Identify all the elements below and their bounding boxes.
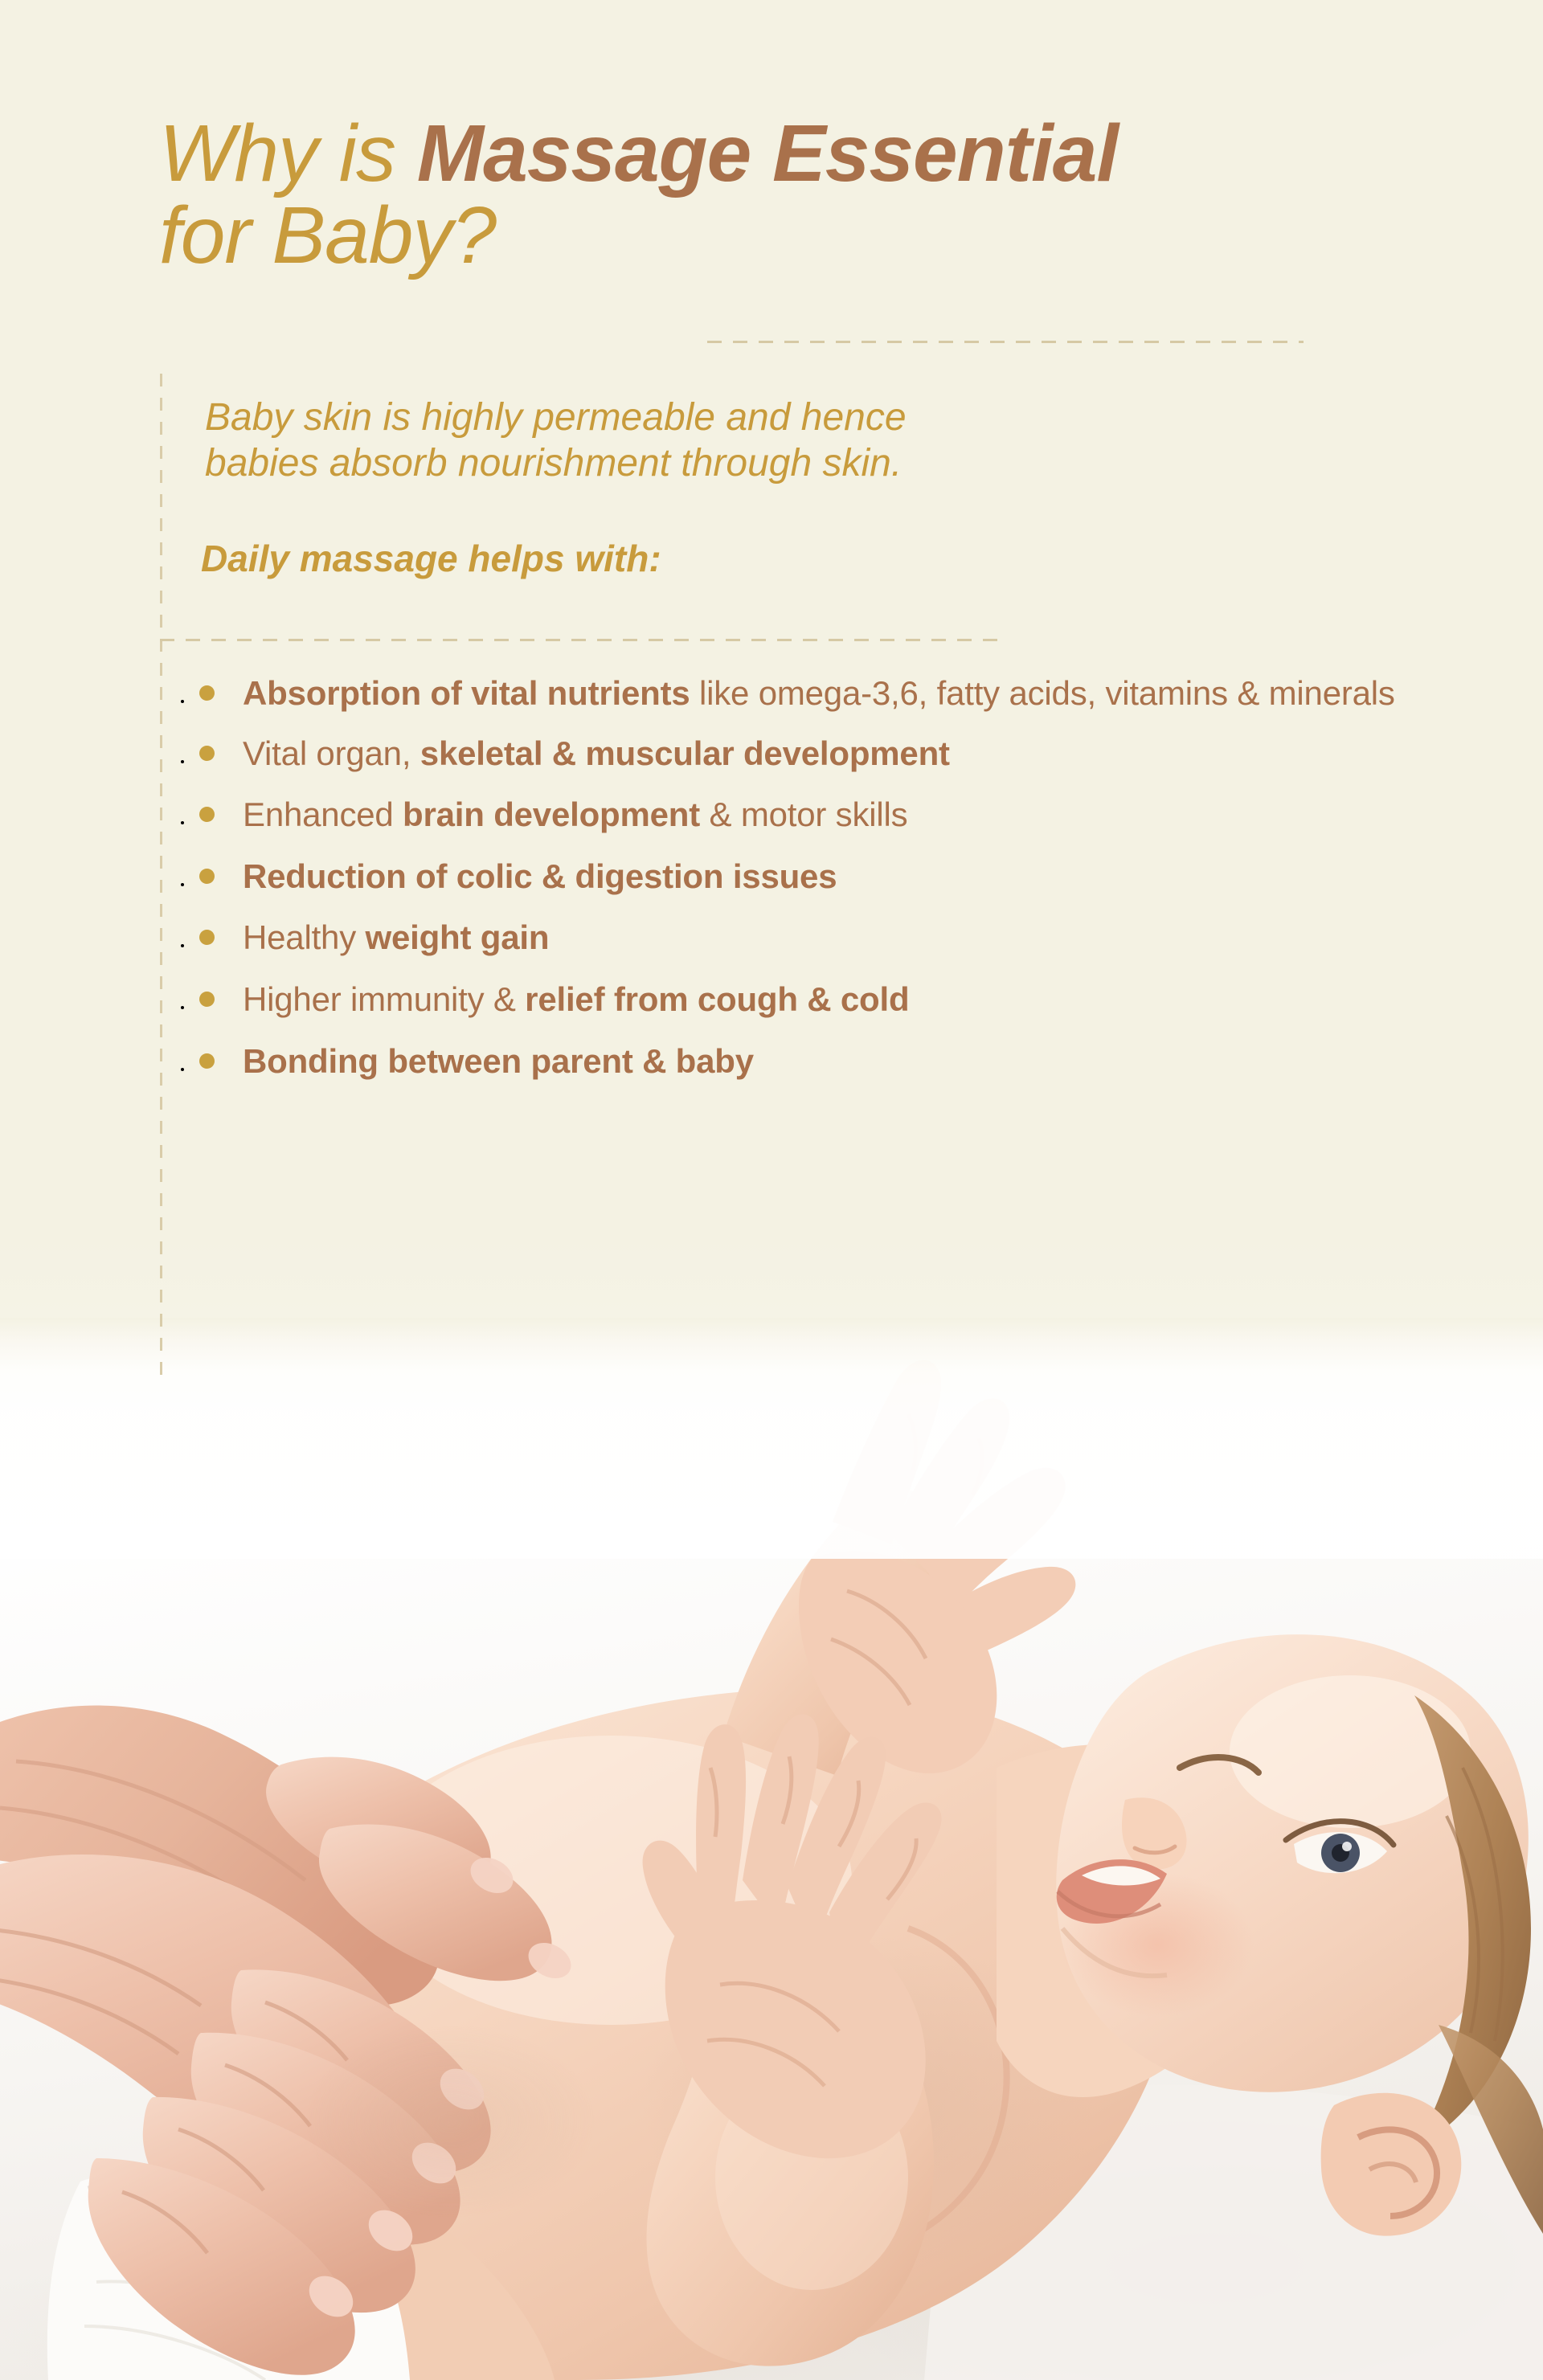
benefit-immunity: Higher immunity & relief from cough & co… <box>243 980 909 1018</box>
helps-heading: Daily massage helps with: <box>201 537 661 580</box>
benefit-bonding: Bonding between parent & baby <box>243 1042 754 1080</box>
benefits-list: Absorption of vital nutrients like omega… <box>193 672 1398 1083</box>
baby-massage-photo <box>0 1318 1543 2380</box>
page-title: Why is Massage Essential for Baby? <box>159 112 1365 276</box>
poster-root: Why is Massage Essential for Baby? Baby … <box>0 0 1543 2380</box>
title-part-for-baby: for Baby? <box>159 190 496 280</box>
benefit-weight-gain: Healthy weight gain <box>243 918 549 956</box>
lede-paragraph: Baby skin is highly permeable and hence … <box>205 395 1330 486</box>
benefit-colic-digestion: Reduction of colic & digestion issues <box>243 857 837 895</box>
list-item: Healthy weight gain <box>193 916 1398 960</box>
bullet-dot-icon <box>199 807 215 822</box>
bullet-dot-icon <box>199 685 215 701</box>
title-part-why-is: Why is <box>159 108 417 198</box>
benefit-absorption: Absorption of vital nutrients like omega… <box>243 674 1395 712</box>
bullet-dot-icon <box>199 1053 215 1069</box>
list-item: Vital organ, skeletal & muscular develop… <box>193 732 1398 776</box>
benefit-vital-organ: Vital organ, skeletal & muscular develop… <box>243 734 950 772</box>
title-dashed-rule <box>707 341 1304 343</box>
list-item: Bonding between parent & baby <box>193 1040 1398 1084</box>
bullet-dot-icon <box>199 746 215 761</box>
left-dashed-rule <box>160 374 162 1384</box>
bullet-dot-icon <box>199 992 215 1007</box>
bullet-dot-icon <box>199 930 215 945</box>
list-item: Reduction of colic & digestion issues <box>193 855 1398 899</box>
lede-line-2: babies absorb nourishment through skin. <box>205 441 1330 487</box>
list-item: Higher immunity & relief from cough & co… <box>193 978 1398 1022</box>
list-item: Absorption of vital nutrients like omega… <box>193 672 1398 716</box>
lede-line-1: Baby skin is highly permeable and hence <box>205 396 907 439</box>
title-part-massage-essential: Massage Essential <box>417 108 1118 198</box>
section-dashed-rule <box>160 639 1001 641</box>
benefit-brain-development: Enhanced brain development & motor skill… <box>243 795 907 833</box>
bullet-dot-icon <box>199 869 215 884</box>
list-item: Enhanced brain development & motor skill… <box>193 793 1398 837</box>
